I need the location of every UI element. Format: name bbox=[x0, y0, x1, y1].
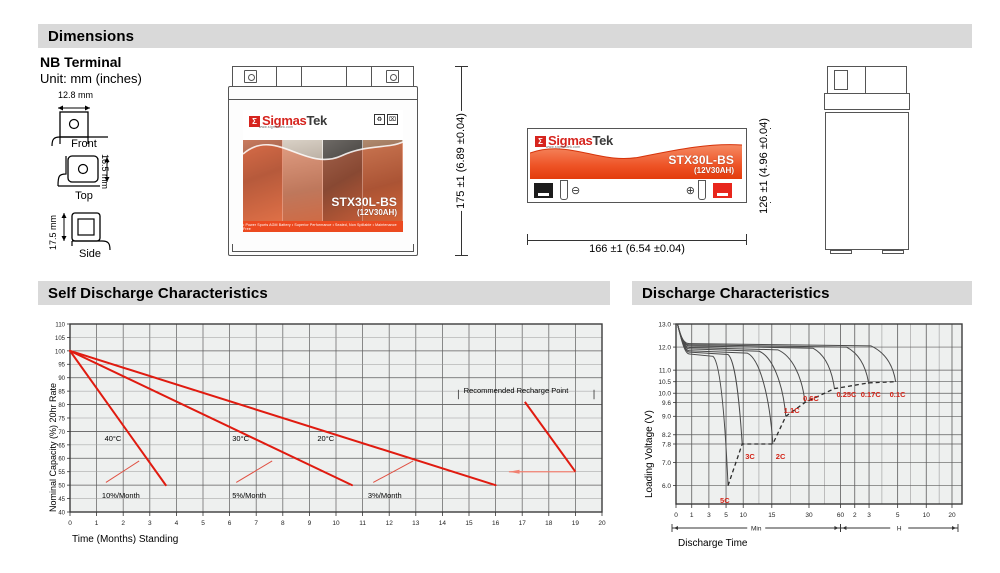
photo-rider-2 bbox=[283, 140, 323, 232]
svg-text:H: H bbox=[897, 526, 902, 533]
svg-text:110: 110 bbox=[55, 322, 65, 328]
discharge-plot: 13.012.011.010.510.09.69.08.27.87.06.001… bbox=[632, 318, 972, 568]
svg-text:10: 10 bbox=[923, 512, 931, 519]
battery-rear-foot-right bbox=[882, 250, 904, 254]
svg-text:8: 8 bbox=[281, 520, 285, 527]
svg-text:70: 70 bbox=[58, 430, 65, 436]
svg-text:95: 95 bbox=[58, 363, 65, 369]
battery-side-base: ⊖ ⊕ bbox=[527, 180, 739, 202]
front-view-label: Front bbox=[54, 138, 114, 150]
svg-text:15: 15 bbox=[768, 512, 776, 519]
svg-text:60: 60 bbox=[837, 512, 845, 519]
svg-text:7.0: 7.0 bbox=[662, 460, 671, 467]
discharge-y-axis-title: Loading Voltage (V) bbox=[644, 410, 655, 498]
model-number-side: STX30L-BS bbox=[668, 154, 734, 166]
svg-text:3: 3 bbox=[707, 512, 711, 519]
dimension-cap-left bbox=[527, 234, 528, 245]
svg-text:10.0: 10.0 bbox=[658, 391, 671, 398]
svg-text:11: 11 bbox=[359, 520, 366, 527]
svg-text:10: 10 bbox=[332, 520, 340, 527]
svg-text:8.2: 8.2 bbox=[662, 432, 671, 439]
discharge-x-axis-title: Discharge Time bbox=[678, 538, 747, 549]
discharge-curve-label: 2C bbox=[776, 452, 786, 461]
svg-text:100: 100 bbox=[55, 349, 66, 355]
battery-rear-foot-left bbox=[830, 250, 852, 254]
terminal-slot-negative bbox=[538, 193, 549, 196]
dimension-width-side-text: 166 ±1 (6.54 ±0.04) bbox=[586, 243, 688, 255]
top-view-label: Top bbox=[54, 190, 114, 202]
label-action-photos bbox=[243, 140, 403, 232]
eco-icon-group: ♻ ⌧ bbox=[374, 114, 398, 125]
dimension-line bbox=[527, 240, 747, 241]
battery-label-front: Σ Sigmas Tek www.sigmastek.com ♻ ⌧ STX30… bbox=[243, 110, 403, 232]
svg-text:3: 3 bbox=[148, 520, 152, 527]
svg-text:45: 45 bbox=[58, 497, 65, 503]
brand-url-front: www.sigmastek.com bbox=[259, 125, 293, 129]
svg-text:75: 75 bbox=[58, 416, 65, 422]
svg-text:2: 2 bbox=[121, 520, 125, 527]
svg-text:2: 2 bbox=[853, 512, 857, 519]
capacity-side: (12V30AH) bbox=[668, 166, 734, 175]
svg-text:10.5: 10.5 bbox=[658, 379, 671, 386]
svg-text:50: 50 bbox=[58, 484, 65, 490]
discharge-curve-label: 0.1C bbox=[890, 390, 906, 399]
svg-text:13: 13 bbox=[412, 520, 420, 527]
brand-name-second-side: Tek bbox=[592, 135, 613, 147]
svg-text:5: 5 bbox=[201, 520, 205, 527]
self-discharge-chart: 4045505560657075808590951001051100123456… bbox=[38, 318, 610, 558]
battery-rear-divider bbox=[865, 66, 866, 94]
nb-terminal-block: NB Terminal Unit: mm (inches) 12.8 mm Fr… bbox=[40, 54, 215, 266]
dimension-height-front-text: 175 ±1 (6.89 ±0.04) bbox=[455, 111, 467, 211]
svg-text:16: 16 bbox=[492, 520, 500, 527]
svg-text:10: 10 bbox=[740, 512, 748, 519]
no-dispose-icon: ⌧ bbox=[387, 114, 398, 125]
photo-rider-1 bbox=[243, 140, 283, 232]
self-discharge-y-axis-title: Nominal Capacity (%) 20hr Rate bbox=[48, 383, 58, 512]
dimension-height-side: 126 ±1 (4.96 ±0.04) bbox=[755, 128, 785, 203]
dimension-height-front: 175 ±1 (6.89 ±0.04) bbox=[452, 66, 482, 256]
svg-text:85: 85 bbox=[58, 390, 65, 396]
svg-text:20: 20 bbox=[598, 520, 606, 527]
model-number-front: STX30L-BS bbox=[331, 196, 397, 208]
battery-label-side: Σ Sigmas Tek www.sigmastek.com STX30L-BS… bbox=[530, 131, 742, 179]
svg-text:20: 20 bbox=[948, 512, 956, 519]
battery-side-view: Σ Sigmas Tek www.sigmastek.com STX30L-BS… bbox=[527, 128, 747, 228]
label-model-block-side: STX30L-BS (12V30AH) bbox=[668, 154, 734, 175]
svg-text:Min: Min bbox=[751, 526, 762, 533]
battery-rear-view bbox=[824, 66, 910, 256]
section-title-discharge: Discharge Characteristics bbox=[642, 285, 830, 302]
self-discharge-x-axis-title: Time (Months) Standing bbox=[72, 534, 178, 545]
svg-text:60: 60 bbox=[58, 457, 65, 463]
dimension-cap-bottom bbox=[455, 255, 468, 256]
svg-text:12: 12 bbox=[386, 520, 394, 527]
polarity-negative-icon: ⊖ bbox=[571, 184, 580, 197]
battery-foot-front bbox=[232, 244, 414, 252]
svg-text:1: 1 bbox=[95, 520, 99, 527]
svg-text:1: 1 bbox=[690, 512, 694, 519]
svg-text:6.0: 6.0 bbox=[662, 483, 671, 490]
svg-text:40: 40 bbox=[58, 510, 65, 516]
svg-text:4: 4 bbox=[175, 520, 179, 527]
self-discharge-annotation: 5%/Month bbox=[232, 491, 266, 500]
discharge-curve-label: 5C bbox=[720, 496, 730, 505]
self-discharge-annotation: 20°C bbox=[317, 434, 334, 443]
terminal-negative-front bbox=[244, 70, 257, 83]
svg-text:9.0: 9.0 bbox=[662, 414, 671, 421]
svg-text:19: 19 bbox=[572, 520, 580, 527]
discharge-chart: 13.012.011.010.510.09.69.08.27.87.06.001… bbox=[632, 318, 972, 568]
dimension-cap-right bbox=[746, 234, 747, 245]
brand-mark-icon-side: Σ bbox=[535, 136, 546, 147]
svg-text:55: 55 bbox=[58, 470, 65, 476]
battery-shoulder bbox=[228, 86, 418, 100]
terminal-positive-side bbox=[713, 183, 732, 198]
svg-text:9: 9 bbox=[308, 520, 312, 527]
svg-text:5: 5 bbox=[896, 512, 900, 519]
self-discharge-annotation: 10%/Month bbox=[102, 491, 140, 500]
battery-rear-notch bbox=[834, 70, 848, 90]
side-view-label: Side bbox=[60, 248, 120, 260]
svg-text:6: 6 bbox=[228, 520, 232, 527]
svg-text:105: 105 bbox=[55, 336, 66, 342]
svg-text:11.0: 11.0 bbox=[659, 368, 672, 375]
lid-notch-left bbox=[276, 66, 302, 88]
battery-rear-body bbox=[825, 112, 909, 250]
battery-rear-collar bbox=[824, 93, 910, 110]
section-header-dimensions: Dimensions bbox=[38, 24, 972, 48]
self-discharge-annotation: 30°C bbox=[232, 434, 249, 443]
top-depth-dimension: 16.5 mm bbox=[100, 154, 110, 189]
nb-terminal-title: NB Terminal bbox=[40, 54, 215, 70]
svg-text:9.6: 9.6 bbox=[662, 400, 671, 407]
svg-text:3: 3 bbox=[867, 512, 871, 519]
brand-name-second: Tek bbox=[306, 115, 327, 127]
svg-text:13.0: 13.0 bbox=[658, 321, 671, 328]
terminal-slot-positive bbox=[717, 193, 728, 196]
photo-rider-3 bbox=[323, 140, 363, 232]
svg-text:7: 7 bbox=[254, 520, 258, 527]
terminal-positive-front bbox=[386, 70, 399, 83]
label-model-block-front: STX30L-BS (12V30AH) bbox=[331, 196, 397, 217]
svg-text:0: 0 bbox=[674, 512, 678, 519]
svg-text:80: 80 bbox=[58, 403, 65, 409]
section-header-self-discharge: Self Discharge Characteristics bbox=[38, 281, 610, 305]
dimension-cap-top bbox=[455, 66, 468, 67]
discharge-curve-label: 0.25C bbox=[836, 390, 856, 399]
lid-notch-right bbox=[346, 66, 372, 88]
discharge-curve-label: 1.1C bbox=[784, 406, 800, 415]
section-title-dimensions: Dimensions bbox=[48, 28, 134, 45]
svg-text:7.8: 7.8 bbox=[662, 441, 671, 448]
dimension-height-side-text: 126 ±1 (4.96 ±0.04) bbox=[758, 116, 770, 216]
battery-front-view: Σ Sigmas Tek www.sigmastek.com ♻ ⌧ STX30… bbox=[228, 66, 418, 256]
self-discharge-annotation: Recommended Recharge Point bbox=[464, 386, 569, 395]
svg-text:17: 17 bbox=[519, 520, 527, 527]
discharge-curve-label: 0.6C bbox=[803, 394, 819, 403]
self-discharge-annotation: 3%/Month bbox=[368, 491, 402, 500]
section-title-self-discharge: Self Discharge Characteristics bbox=[48, 285, 268, 302]
svg-text:0: 0 bbox=[68, 520, 72, 527]
photo-rider-4 bbox=[363, 140, 403, 232]
dimension-width-side: 166 ±1 (6.54 ±0.04) bbox=[527, 238, 747, 260]
recycle-icon: ♻ bbox=[374, 114, 385, 125]
capacity-front: (12V30AH) bbox=[331, 208, 397, 217]
polarity-positive-icon: ⊕ bbox=[686, 184, 695, 197]
svg-text:30: 30 bbox=[805, 512, 813, 519]
terminal-negative-side bbox=[534, 183, 553, 198]
label-tagline: • Power Sports AGM Battery • Superior Pe… bbox=[243, 221, 403, 232]
unit-label: Unit: mm (inches) bbox=[40, 71, 215, 86]
svg-text:5: 5 bbox=[724, 512, 728, 519]
discharge-curve-label: 0.17C bbox=[861, 390, 881, 399]
svg-text:18: 18 bbox=[545, 520, 553, 527]
front-width-dimension: 12.8 mm bbox=[58, 90, 93, 100]
vent-cap-right bbox=[698, 180, 706, 200]
svg-text:65: 65 bbox=[58, 443, 65, 449]
self-discharge-annotation: 40°C bbox=[105, 434, 122, 443]
section-header-discharge: Discharge Characteristics bbox=[632, 281, 972, 305]
svg-text:14: 14 bbox=[439, 520, 447, 527]
svg-text:15: 15 bbox=[465, 520, 473, 527]
vent-cap-left bbox=[560, 180, 568, 200]
svg-text:12.0: 12.0 bbox=[658, 344, 671, 351]
brand-url-side: www.sigmastek.com bbox=[546, 145, 580, 149]
svg-text:90: 90 bbox=[58, 376, 65, 382]
discharge-curve-label: 3C bbox=[745, 452, 755, 461]
